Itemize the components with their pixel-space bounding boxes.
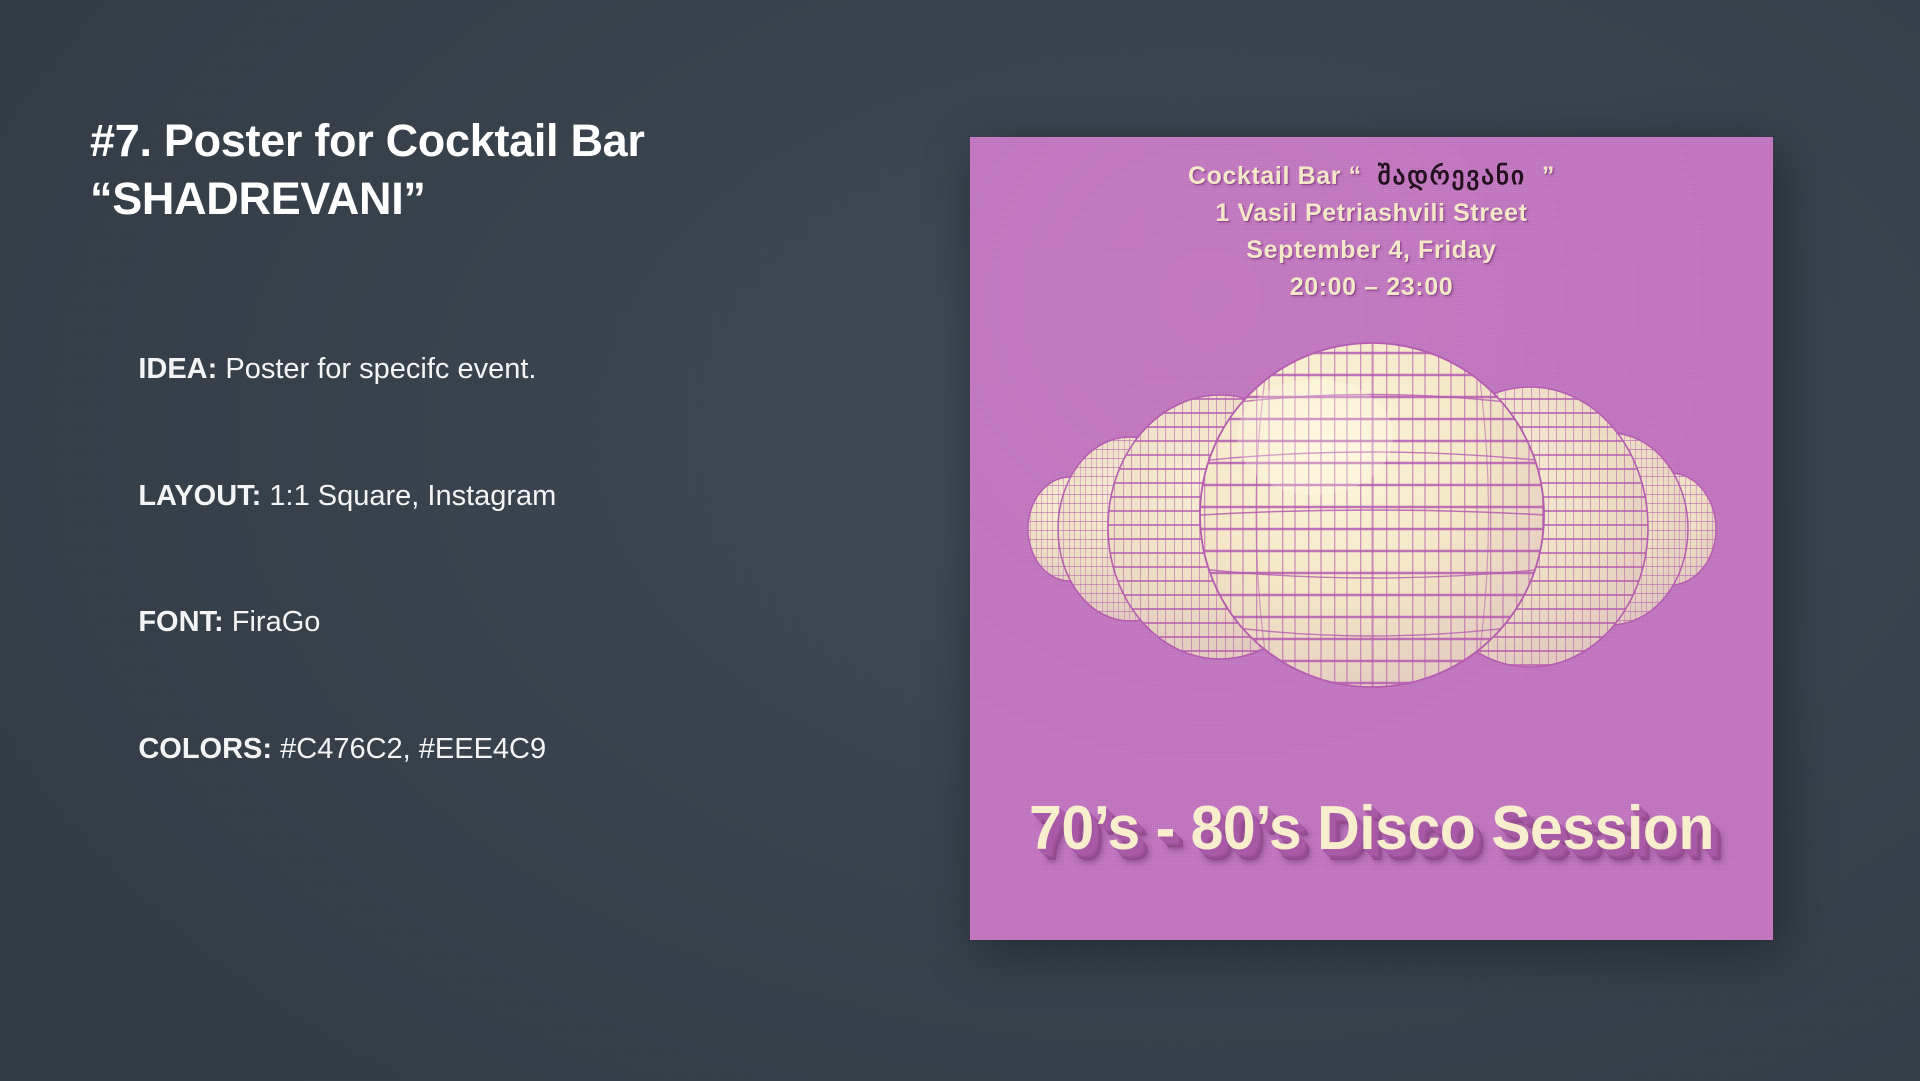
poster-artboard: Cocktail Bar “შადრევანი” 1 Vasil Petrias… (970, 137, 1773, 940)
poster-date: September 4, Friday (970, 235, 1773, 265)
poster-headline: 70’s - 80’s Disco Session (1029, 792, 1714, 864)
spec-row-font: FONT: FiraGo (90, 576, 790, 672)
poster-header-block: Cocktail Bar “შადრევანი” 1 Vasil Petrias… (970, 161, 1773, 309)
spec-value-font: FiraGo (224, 606, 321, 638)
page-title-line-1: #7. Poster for Cocktail Bar (90, 112, 790, 170)
spec-label-layout: LAYOUT: (138, 480, 261, 512)
spec-value-idea: Poster for specifc event. (217, 353, 536, 385)
poster-headline-block: 70’s - 80’s Disco Session (970, 794, 1773, 862)
spec-label-colors: COLORS: (138, 733, 272, 765)
poster-venue-suffix: ” (1542, 162, 1555, 190)
poster-container: Cocktail Bar “შადრევანი” 1 Vasil Petrias… (970, 137, 1773, 940)
spec-row-idea: IDEA: Poster for specifc event. (90, 322, 790, 418)
disco-ball-icon (970, 287, 1773, 757)
spec-row-layout: LAYOUT: 1:1 Square, Instagram (90, 449, 790, 545)
spec-value-layout: 1:1 Square, Instagram (261, 480, 556, 512)
spec-label-idea: IDEA: (138, 353, 217, 385)
poster-time: 20:00 – 23:00 (970, 272, 1773, 302)
poster-venue-line: Cocktail Bar “შადრევანი” (970, 161, 1773, 191)
poster-venue-prefix: Cocktail Bar “ (1188, 162, 1362, 190)
spec-list: IDEA: Poster for specifc event. LAYOUT: … (90, 322, 790, 798)
page-title-line-2: “SHADREVANI” (90, 170, 790, 228)
spec-label-font: FONT: (138, 606, 223, 638)
slide-info-panel: #7. Poster for Cocktail Bar “SHADREVANI”… (90, 112, 790, 829)
page-title: #7. Poster for Cocktail Bar “SHADREVANI” (90, 112, 790, 227)
poster-venue-name-georgian: შადრევანი (1362, 162, 1542, 190)
spec-value-colors: #C476C2, #EEE4C9 (272, 733, 546, 765)
spec-row-colors: COLORS: #C476C2, #EEE4C9 (90, 702, 790, 798)
poster-address: 1 Vasil Petriashvili Street (970, 198, 1773, 228)
